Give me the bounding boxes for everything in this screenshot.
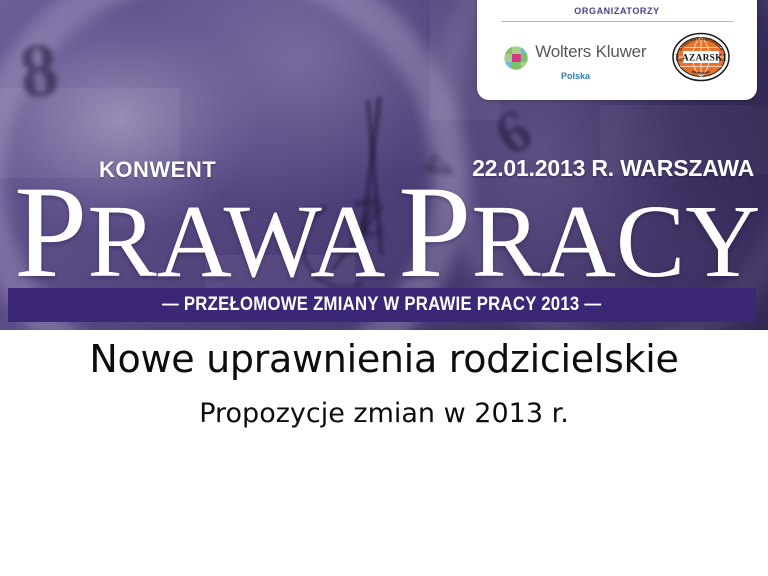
- organizers-divider: [501, 21, 733, 22]
- masthead-prawa-rest: RAWA: [87, 184, 385, 299]
- organizers-logo-row: Wolters Kluwer Polska ŁAZARSKI UCZELNIA …: [477, 28, 757, 86]
- wolters-kluwer-country: Polska: [561, 71, 590, 81]
- event-tagline-strip: — PRZEŁOMOWE ZMIANY W PRAWIE PRACY 2013 …: [8, 288, 756, 322]
- slide-subtitle: Propozycje zmian w 2013 r.: [0, 398, 768, 429]
- wolters-kluwer-logo: Wolters Kluwer: [503, 43, 646, 71]
- masthead-pracy-rest: RACY: [471, 184, 760, 299]
- masthead-prawa-initial: P: [14, 158, 87, 305]
- masthead-word-prawa: PRAWA: [14, 178, 385, 286]
- svg-text:ŁAZARSKI: ŁAZARSKI: [675, 54, 726, 64]
- event-masthead-banner: 8 9 2 4 KONWENT 22.01.2013 R. WARSZAWA P…: [0, 0, 768, 330]
- organizers-label: ORGANIZATORZY: [477, 6, 757, 16]
- organizers-card: ORGANIZATORZY: [477, 0, 757, 100]
- masthead-word-pracy: PRACY: [398, 178, 760, 286]
- wolters-kluwer-globe-icon: [503, 45, 529, 71]
- wolters-kluwer-wordmark: Wolters Kluwer: [535, 43, 646, 60]
- event-tagline-text: — PRZEŁOMOWE ZMIANY W PRAWIE PRACY 2013 …: [162, 294, 601, 316]
- lazarski-university-logo-icon: ŁAZARSKI UCZELNIA ŁAZARSKIEGO WARSZAWA: [671, 31, 731, 83]
- slide-title: Nowe uprawnienia rodzicielskie: [0, 337, 768, 381]
- wolters-kluwer-name: Wolters Kluwer: [535, 43, 646, 60]
- masthead-pracy-initial: P: [398, 158, 471, 305]
- presentation-slide: 8 9 2 4 KONWENT 22.01.2013 R. WARSZAWA P…: [0, 0, 768, 576]
